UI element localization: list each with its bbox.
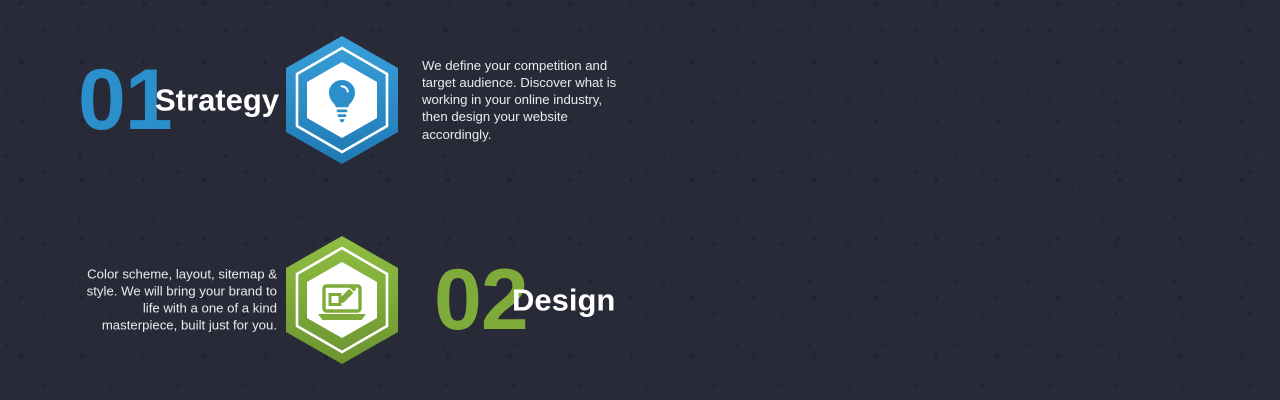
process-step-03: 03 Develop </> We turn your ideas into xyxy=(640,0,1280,200)
process-step-01: 01 Strategy We xyxy=(0,0,640,200)
step-title-02: Design xyxy=(512,285,615,316)
process-step-02: Color scheme, layout, sitemap & style. W… xyxy=(0,200,640,400)
step-description-02: Color scheme, layout, sitemap & style. W… xyxy=(72,266,277,335)
step-description-01: We define your competition and target au… xyxy=(422,57,618,143)
process-steps-board: 01 Strategy We xyxy=(0,0,1280,400)
process-step-04: This is where you go live, to the world.… xyxy=(640,200,1280,400)
step-icon-badge-02[interactable] xyxy=(282,234,402,366)
step-title-01: Strategy xyxy=(155,85,279,116)
step-icon-badge-01[interactable] xyxy=(282,34,402,166)
